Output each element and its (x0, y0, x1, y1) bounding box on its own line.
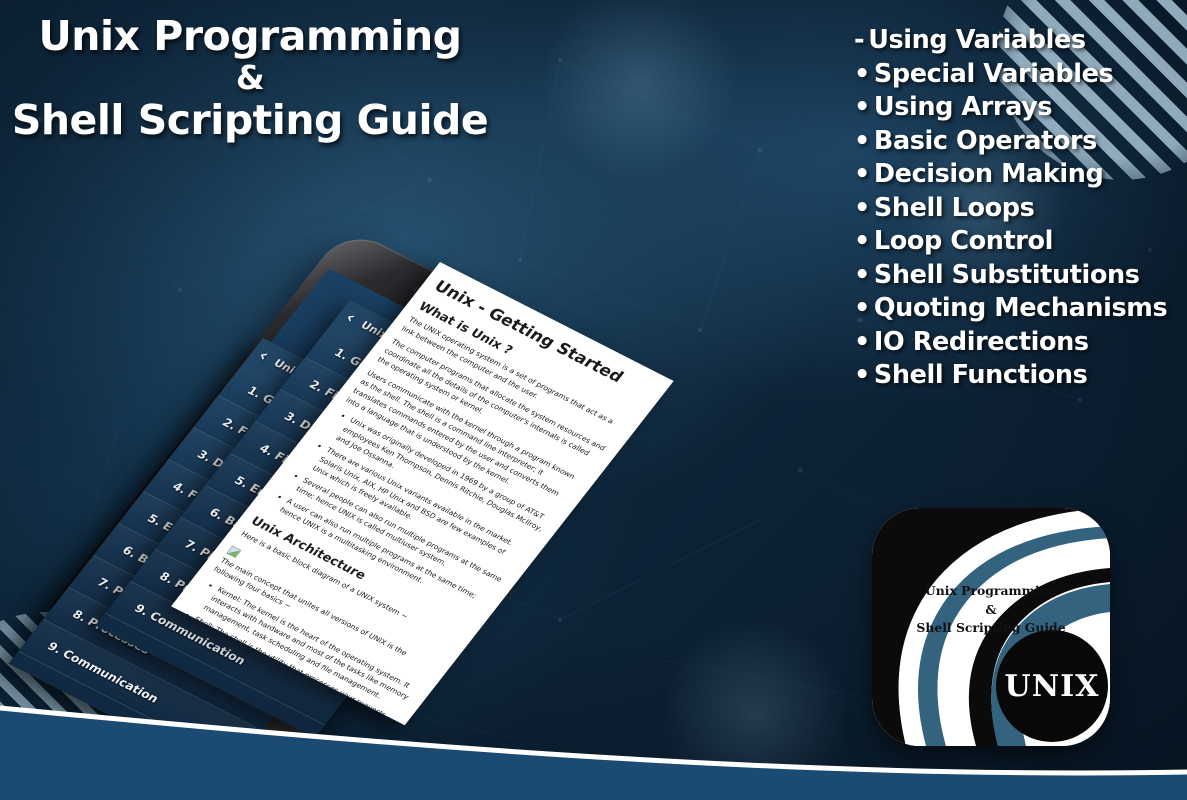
feature-item: •Shell Substitutions (854, 259, 1187, 293)
feature-item: •IO Redirections (854, 326, 1187, 360)
title-line-2: Shell Scripting Guide (0, 98, 500, 142)
list-marker: • (854, 292, 870, 326)
list-marker: • (854, 58, 870, 92)
feature-item: -Using Variables (854, 24, 1187, 58)
feature-item: •Quoting Mechanisms (854, 292, 1187, 326)
feature-item: •Shell Functions (854, 359, 1187, 393)
list-marker: • (854, 125, 870, 159)
list-marker: • (854, 158, 870, 192)
feature-item: •Using Arrays (854, 91, 1187, 125)
list-marker: • (854, 192, 870, 226)
title-line-1: Unix Programming (0, 14, 500, 58)
feature-item: •Basic Operators (854, 125, 1187, 159)
list-marker: • (854, 326, 870, 360)
feature-item: •Loop Control (854, 225, 1187, 259)
app-icon-title: Unix Programming & Shell Scripting Guide (872, 582, 1110, 638)
feature-label: Special Variables (874, 59, 1113, 89)
list-marker: • (854, 259, 870, 293)
feature-label: Using Variables (868, 25, 1085, 55)
app-icon-ampersand: & (872, 601, 1110, 620)
feature-label: Loop Control (874, 226, 1053, 256)
feature-list: -Using Variables •Special Variables •Usi… (854, 24, 1187, 393)
feature-label: Shell Loops (874, 193, 1035, 223)
list-marker: - (854, 24, 864, 58)
device-mockup: Unix Programming Shell Scripting Guide ‹… (20, 150, 660, 690)
feature-label: Using Arrays (874, 92, 1052, 122)
feature-label: Shell Functions (874, 360, 1088, 390)
feature-item: •Special Variables (854, 58, 1187, 92)
feature-label: IO Redirections (874, 327, 1089, 357)
feature-label: Quoting Mechanisms (874, 293, 1167, 323)
promo-title: Unix Programming & Shell Scripting Guide (0, 14, 500, 142)
list-marker: • (854, 225, 870, 259)
unix-badge-label: UNIX (1005, 669, 1100, 704)
back-chevron-icon[interactable]: ‹ (342, 310, 359, 327)
feature-item: •Shell Loops (854, 192, 1187, 226)
unix-badge: UNIX (996, 630, 1108, 742)
app-icon-line-1: Unix Programming (872, 582, 1110, 601)
title-ampersand: & (0, 60, 500, 96)
feature-label: Decision Making (874, 159, 1103, 189)
list-marker: • (854, 91, 870, 125)
list-marker: • (854, 359, 870, 393)
app-icon[interactable]: Unix Programming & Shell Scripting Guide… (872, 508, 1110, 746)
feature-label: Shell Substitutions (874, 260, 1140, 290)
back-chevron-icon[interactable]: ‹ (255, 348, 272, 365)
promo-graphic: Unix Programming & Shell Scripting Guide… (0, 0, 1187, 800)
app-icon-line-2: Shell Scripting Guide (872, 619, 1110, 638)
feature-item: •Decision Making (854, 158, 1187, 192)
feature-label: Basic Operators (874, 126, 1097, 156)
broken-image-icon (226, 545, 241, 558)
